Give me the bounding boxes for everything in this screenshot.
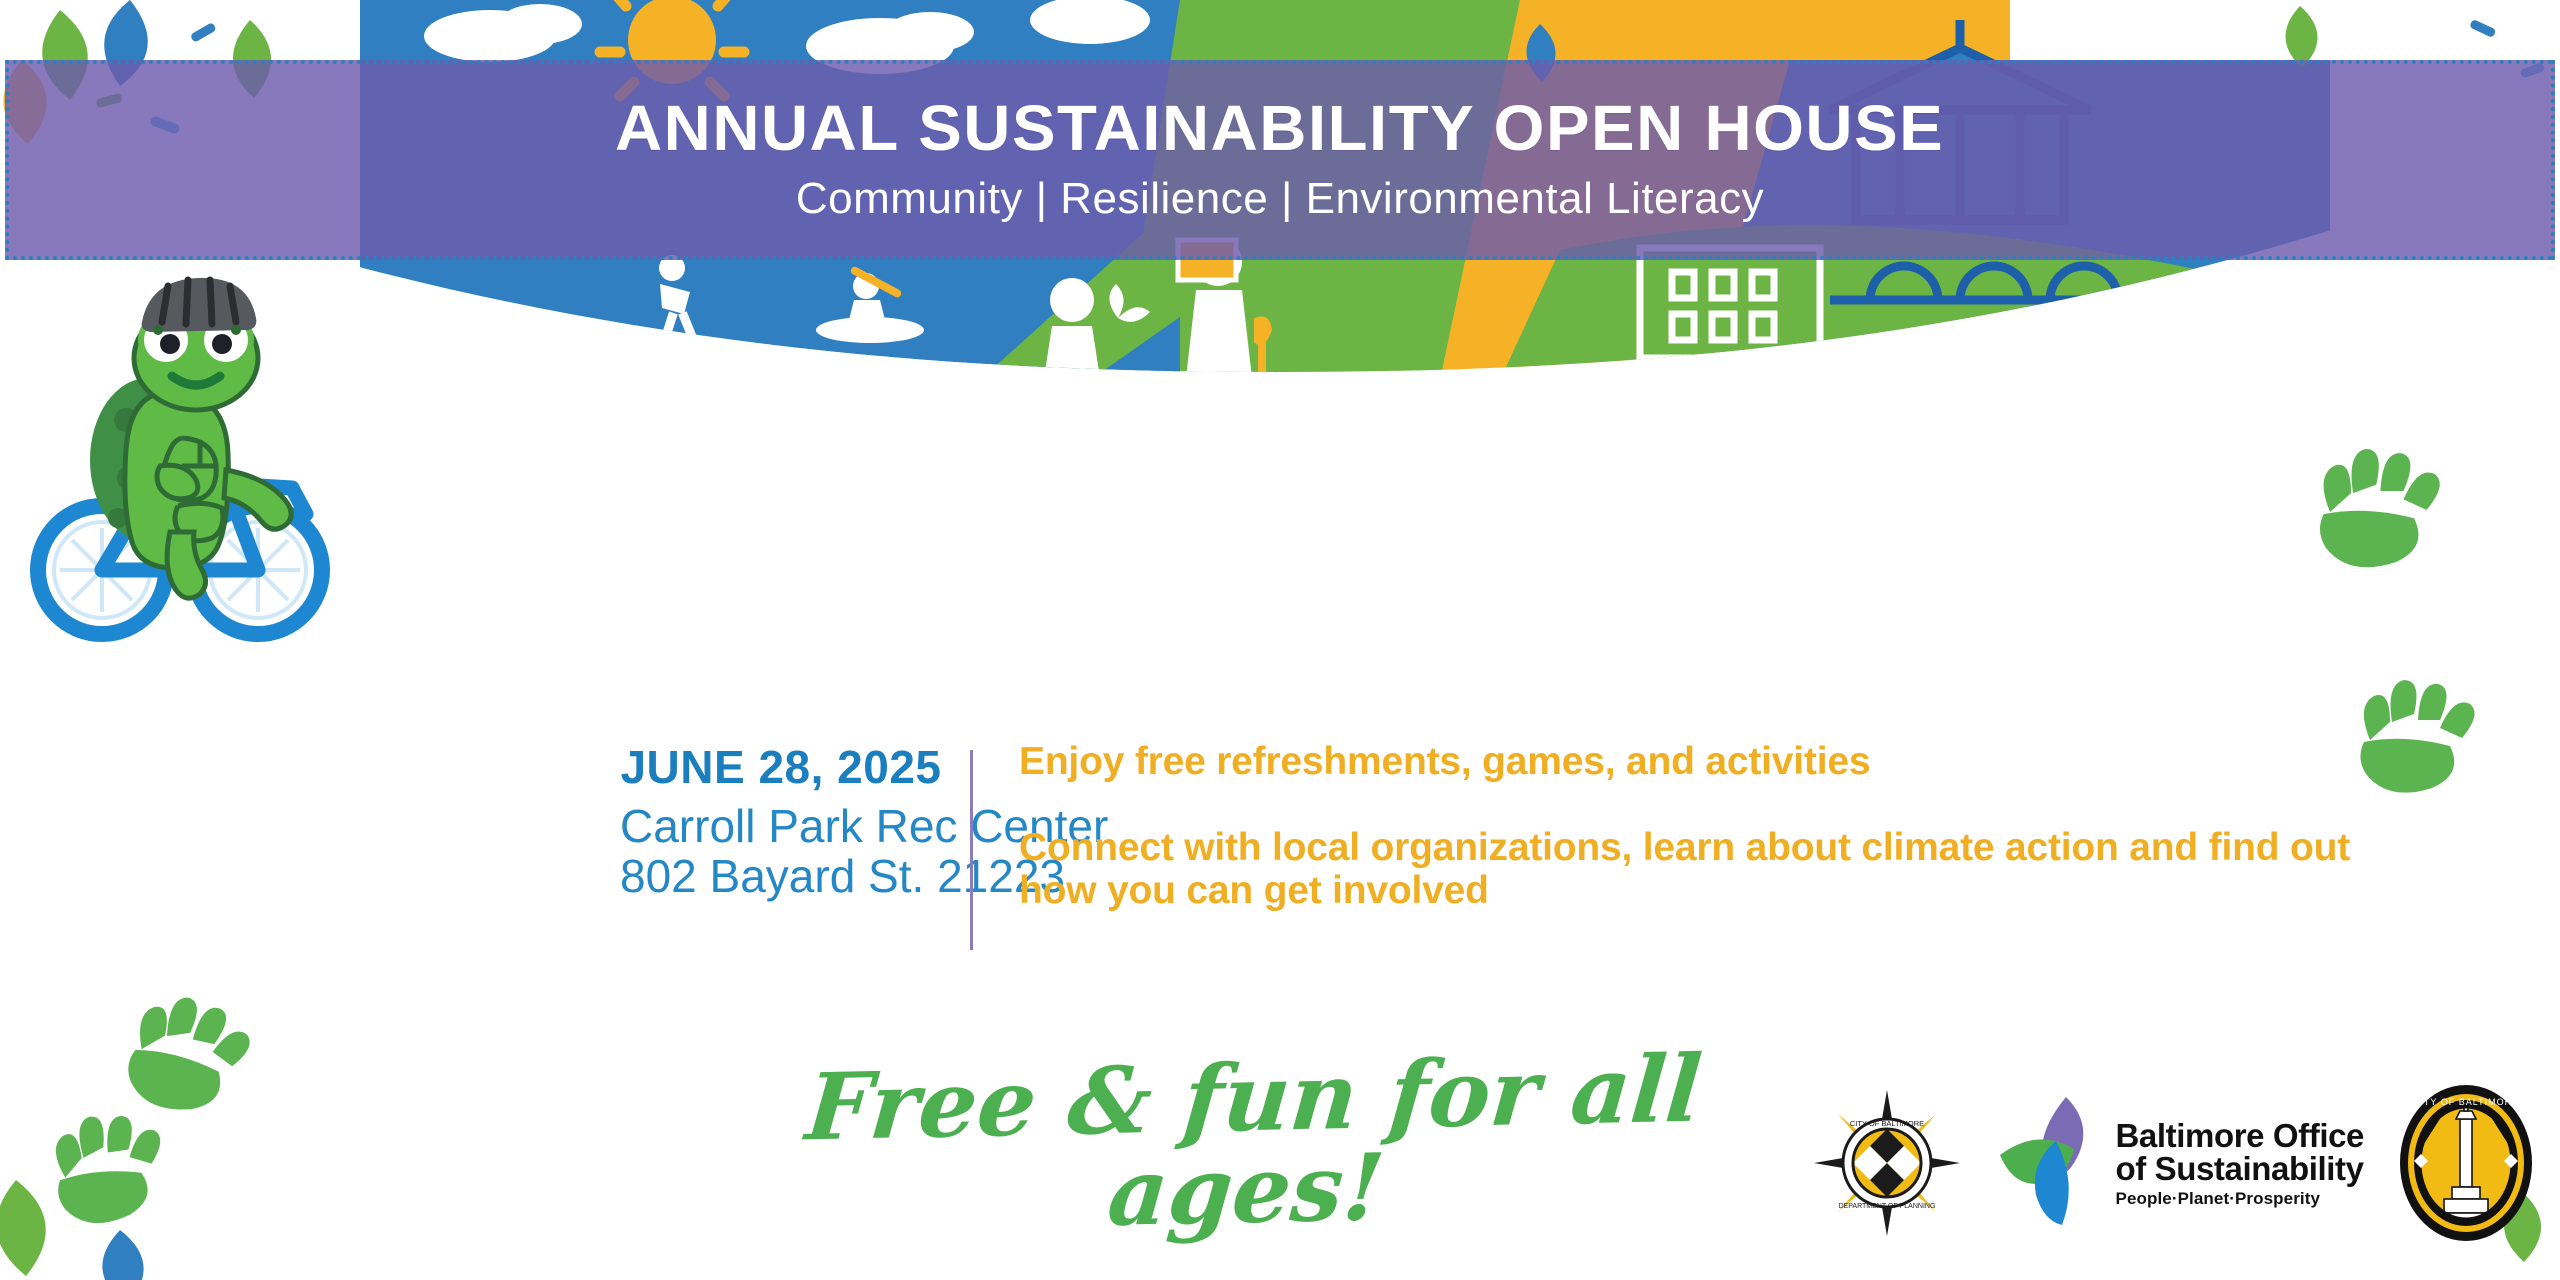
event-info-section: JUNE 28, 2025 Carroll Park Rec Center 80… bbox=[620, 740, 2420, 960]
flyer-canvas: ANNUAL SUSTAINABILITY OPEN HOUSE Communi… bbox=[0, 0, 2560, 1280]
bos-line1: Baltimore Office bbox=[2116, 1119, 2365, 1152]
city-of-baltimore-seal-icon: CITY OF BALTIMORE bbox=[2398, 1083, 2534, 1243]
event-when-where: JUNE 28, 2025 Carroll Park Rec Center 80… bbox=[620, 740, 970, 960]
planning-ring-top: CITY OF BALTIMORE bbox=[1849, 1119, 1923, 1128]
bos-tagline: People·Planet·Prosperity bbox=[2116, 1190, 2365, 1207]
bos-line2: of Sustainability bbox=[2116, 1152, 2365, 1185]
sustainability-leaf-icon bbox=[1996, 1093, 2104, 1233]
event-highlights: Enjoy free refreshments, games, and acti… bbox=[973, 740, 2420, 960]
page-title: ANNUAL SUSTAINABILITY OPEN HOUSE bbox=[615, 96, 1944, 161]
highlight-connect: Connect with local organizations, learn … bbox=[1019, 826, 2420, 913]
planning-ring-bottom: DEPARTMENT OF PLANNING bbox=[1838, 1203, 1935, 1210]
venue-name: Carroll Park Rec Center bbox=[620, 802, 942, 852]
venue-address: 802 Bayard St. 21223 bbox=[620, 852, 942, 902]
logo-row: CITY OF BALTIMORE DEPARTMENT OF PLANNING… bbox=[1812, 1078, 2535, 1248]
turtle-on-bicycle-icon bbox=[30, 270, 360, 670]
tagline-free-and-fun: Free & fun for all ages! bbox=[771, 1042, 1728, 1246]
department-of-planning-compass-icon: CITY OF BALTIMORE DEPARTMENT OF PLANNING bbox=[1812, 1088, 1962, 1238]
city-seal-ring-text: CITY OF BALTIMORE bbox=[2413, 1097, 2519, 1107]
baltimore-office-of-sustainability-logo: Baltimore Office of Sustainability Peopl… bbox=[1996, 1093, 2365, 1233]
event-date: JUNE 28, 2025 bbox=[620, 740, 942, 794]
sustainability-wordmark: Baltimore Office of Sustainability Peopl… bbox=[2116, 1119, 2365, 1207]
highlight-refreshments: Enjoy free refreshments, games, and acti… bbox=[1019, 740, 2420, 784]
page-subtitle: Community | Resilience | Environmental L… bbox=[796, 174, 1764, 224]
title-banner: ANNUAL SUSTAINABILITY OPEN HOUSE Communi… bbox=[5, 60, 2555, 260]
event-venue: Carroll Park Rec Center 802 Bayard St. 2… bbox=[620, 802, 942, 901]
